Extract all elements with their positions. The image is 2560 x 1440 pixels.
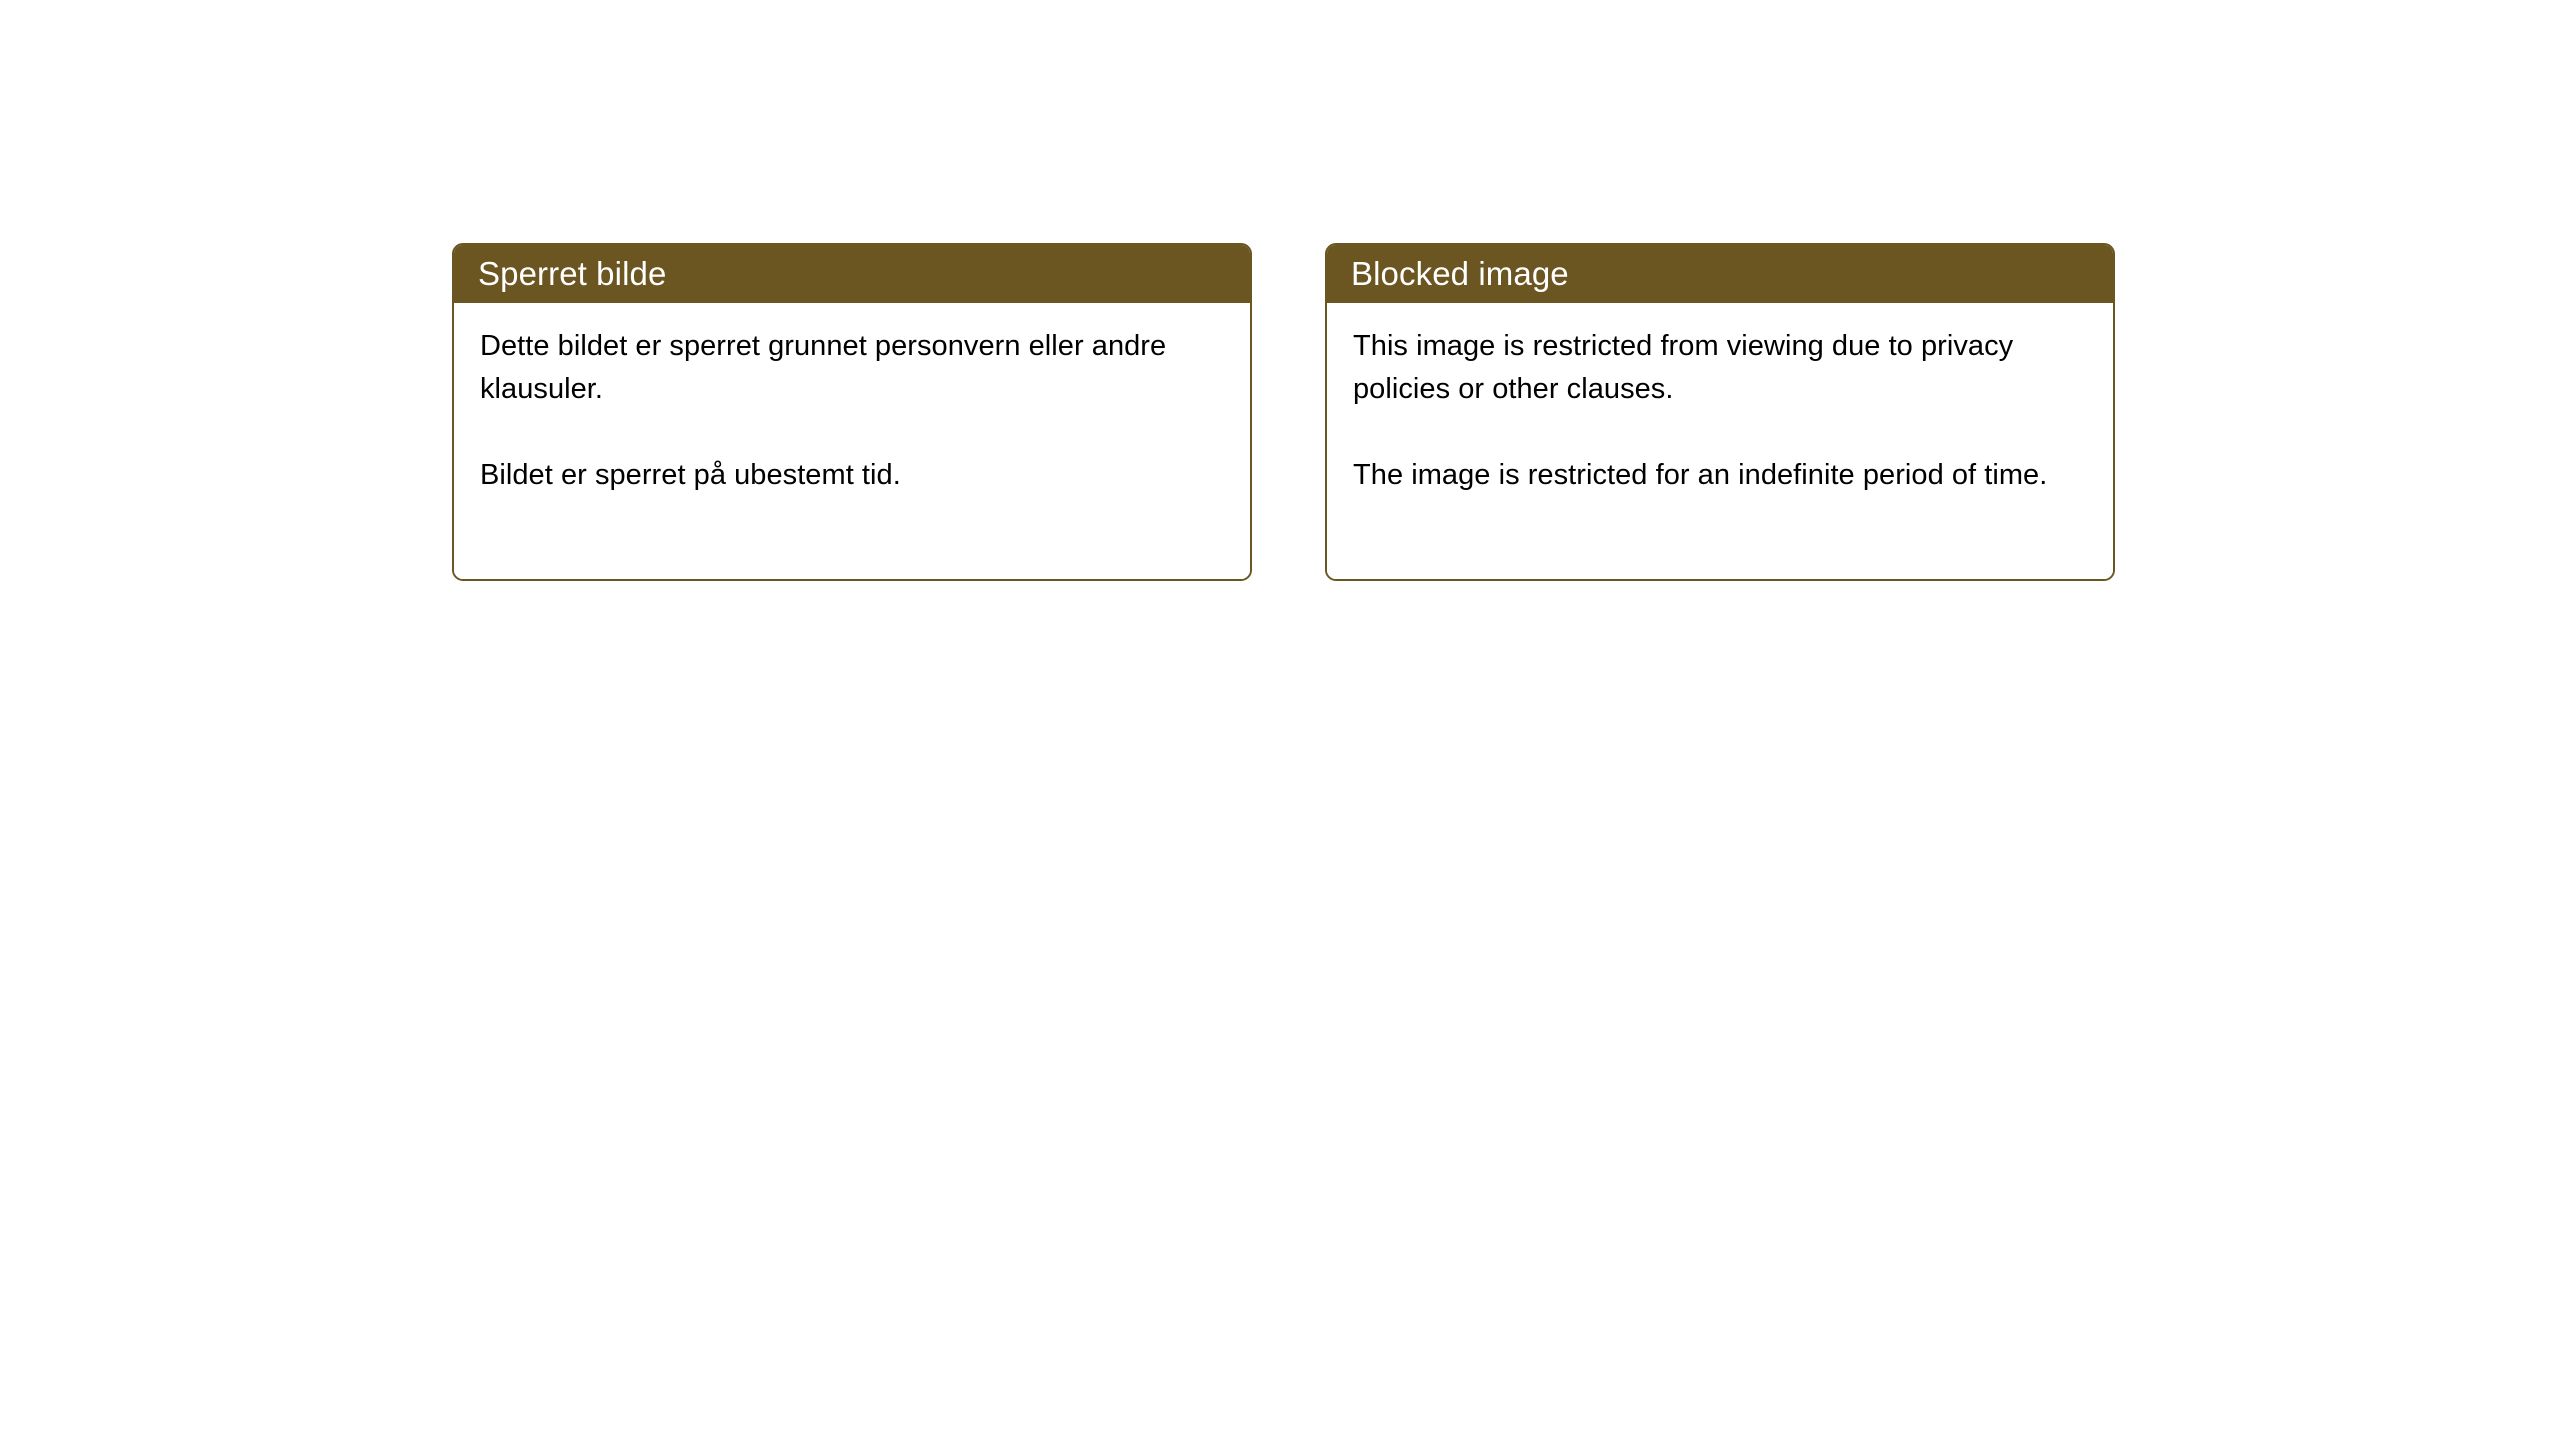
notice-paragraph-duration-english: The image is restricted for an indefinit… <box>1353 454 2087 497</box>
notice-header-norwegian: Sperret bilde <box>454 245 1250 303</box>
notice-header-english: Blocked image <box>1327 245 2113 303</box>
notice-body-english: This image is restricted from viewing du… <box>1327 303 2113 579</box>
notice-title-norwegian: Sperret bilde <box>478 256 666 292</box>
notice-title-english: Blocked image <box>1351 256 1569 292</box>
notice-paragraph-reason-english: This image is restricted from viewing du… <box>1353 325 2087 411</box>
notice-paragraph-duration-norwegian: Bildet er sperret på ubestemt tid. <box>480 454 1224 497</box>
blocked-image-notice-norwegian: Sperret bilde Dette bildet er sperret gr… <box>452 243 1252 581</box>
blocked-image-notice-english: Blocked image This image is restricted f… <box>1325 243 2115 581</box>
notice-paragraph-reason-norwegian: Dette bildet er sperret grunnet personve… <box>480 325 1224 411</box>
page-canvas: Sperret bilde Dette bildet er sperret gr… <box>0 0 2560 1440</box>
notice-body-norwegian: Dette bildet er sperret grunnet personve… <box>454 303 1250 579</box>
